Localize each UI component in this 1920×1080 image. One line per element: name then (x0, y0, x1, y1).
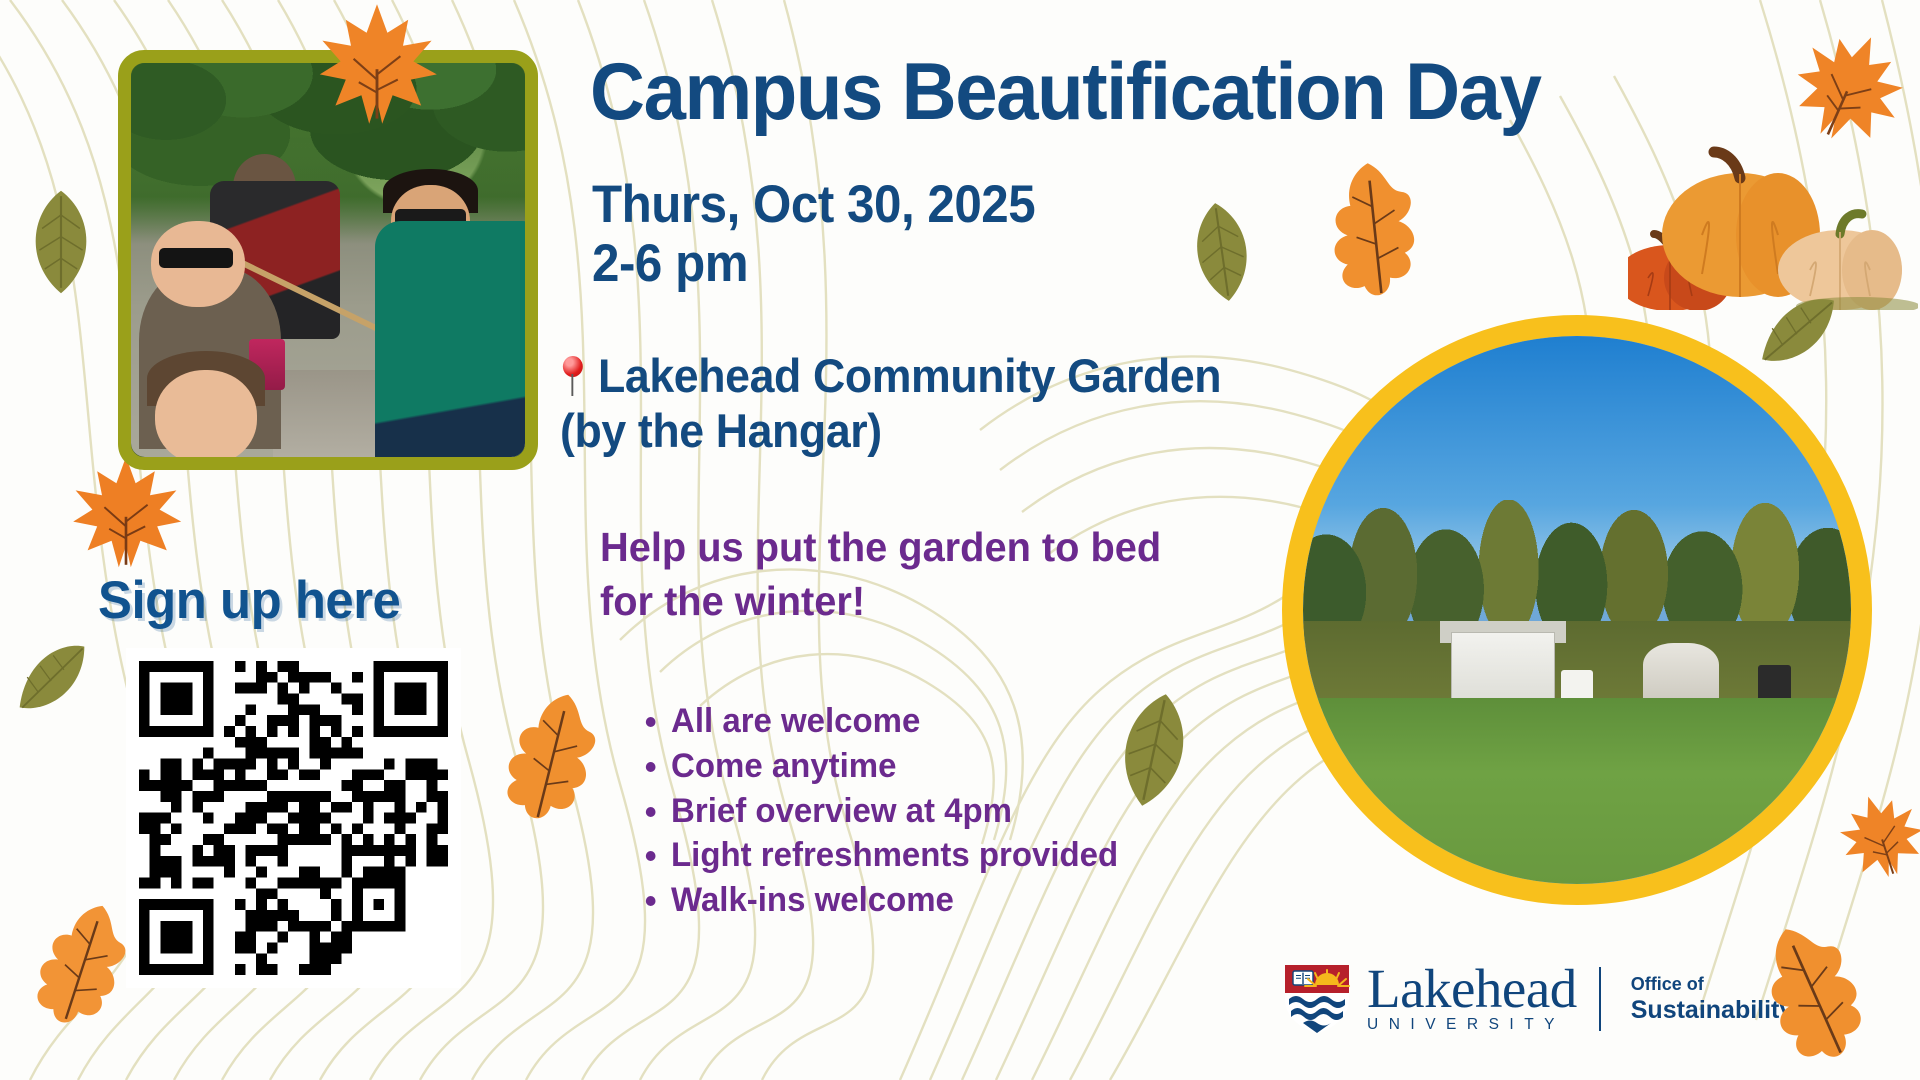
community-garden-photo (1282, 315, 1872, 905)
list-item: Come anytime (640, 745, 1118, 788)
oak-leaf-icon (1313, 155, 1438, 311)
signup-qr-code[interactable] (126, 648, 461, 988)
location-detail: (by the Hangar) (560, 403, 1221, 458)
pumpkin-icon (1628, 130, 1918, 310)
event-details-list: All are welcome Come anytime Brief overv… (640, 700, 1133, 924)
list-item: Walk-ins welcome (640, 879, 1118, 922)
oak-leaf-icon (483, 679, 622, 841)
maple-leaf-icon (1769, 5, 1920, 168)
simple-leaf-icon (0, 625, 109, 728)
group-photo-image (131, 63, 525, 457)
department-name: Office of Sustainability (1631, 973, 1794, 1024)
qr-code-image[interactable] (139, 661, 448, 975)
page-title: Campus Beautification Day (590, 52, 1643, 133)
department-line1: Office of (1631, 973, 1794, 996)
lakehead-wordmark: Lakehead UNIVERSITY (1367, 964, 1577, 1035)
wordmark-subtext: UNIVERSITY (1367, 1016, 1577, 1034)
simple-leaf-icon (1175, 195, 1269, 309)
group-volunteers-photo (118, 50, 538, 470)
list-item: Brief overview at 4pm (640, 790, 1118, 833)
department-line2: Sustainability (1631, 996, 1794, 1025)
event-location: Lakehead Community Garden (by the Hangar… (560, 348, 1221, 459)
map-pin-icon (560, 356, 585, 396)
list-item: All are welcome (640, 700, 1118, 743)
lakehead-crest-icon (1283, 963, 1351, 1035)
simple-leaf-icon (18, 188, 104, 296)
location-name: Lakehead Community Garden (598, 348, 1221, 403)
wordmark-text: Lakehead (1367, 964, 1577, 1015)
poster-canvas: Campus Beautification Day Thurs, Oct 30,… (0, 0, 1920, 1080)
event-date-time: Thurs, Oct 30, 2025 2-6 pm (592, 175, 1035, 294)
event-tagline: Help us put the garden to bed for the wi… (600, 520, 1221, 628)
signup-heading: Sign up here (98, 570, 400, 631)
list-item: Light refreshments provided (640, 834, 1118, 877)
lakehead-logo: Lakehead UNIVERSITY Office of Sustainabi… (1283, 963, 1793, 1035)
garden-photo-image (1303, 336, 1851, 884)
logo-divider (1599, 967, 1601, 1031)
